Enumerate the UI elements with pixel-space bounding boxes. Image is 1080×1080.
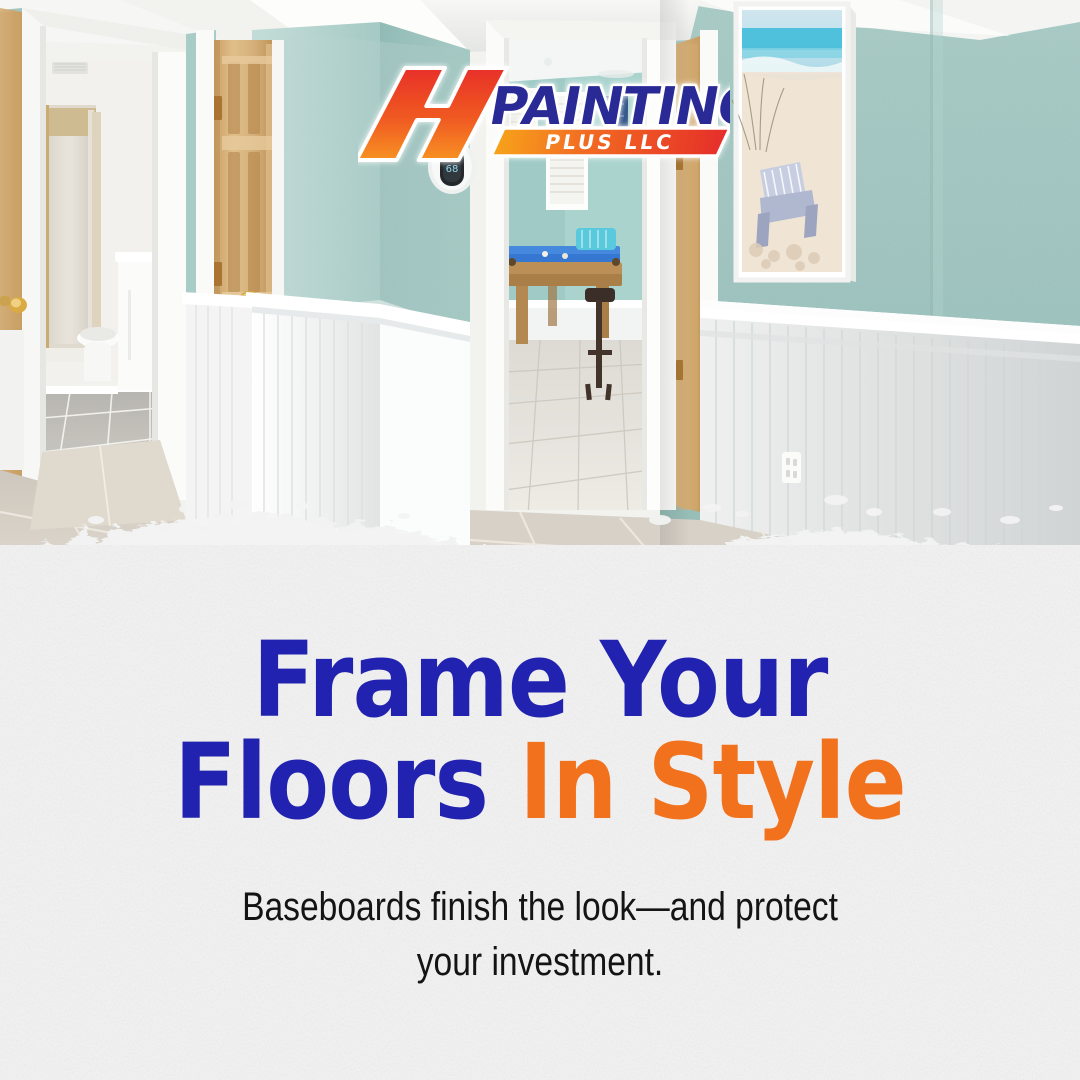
logo-plus-llc-text: PLUS LLC: [543, 130, 676, 154]
headline-line-2-blue-text: Floors: [174, 721, 519, 843]
subtitle-line-2: your investment.: [86, 935, 993, 990]
headline-line-2: Floors In Style: [65, 732, 1015, 834]
social-post-canvas: 68: [0, 0, 1080, 1080]
subtitle-line-1: Baseboards finish the look—and protect: [86, 880, 993, 935]
copy-block: Frame Your Floors In Style Baseboards fi…: [0, 630, 1080, 990]
headline-line-1: Frame Your: [65, 630, 1015, 732]
headline-line-2-orange-text: In Style: [519, 721, 906, 843]
brand-logo: PAINTING PLUS LLC: [358, 62, 730, 170]
